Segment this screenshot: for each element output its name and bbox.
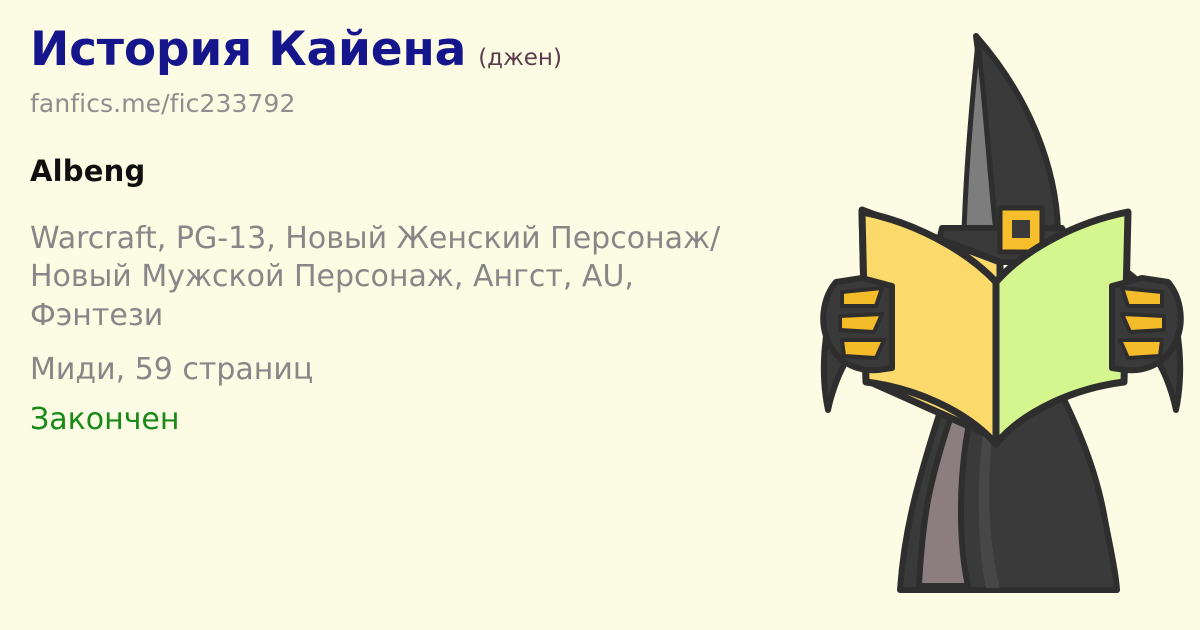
page-title: История Кайена [30,26,466,75]
fic-title-line: История Кайена (джен) [30,26,562,75]
fic-url-link[interactable]: fanfics.me/fic233792 [30,89,296,118]
illustration-column [790,0,1200,630]
fic-size-pages: Миди, 59 страниц [30,351,313,389]
fic-author-name[interactable]: Albeng [30,154,145,188]
fanfic-preview-card: История Кайена (джен) fanfics.me/fic2337… [0,0,1200,630]
witch-reading-book-icon [790,0,1200,630]
fic-info-column: История Кайена (джен) fanfics.me/fic2337… [0,0,790,630]
fic-metadata-tags: Warcraft, PG-13, Новый Женский Персонаж/… [30,220,730,335]
status-badge: Закончен [30,401,180,439]
fic-category-label: (джен) [478,47,562,71]
